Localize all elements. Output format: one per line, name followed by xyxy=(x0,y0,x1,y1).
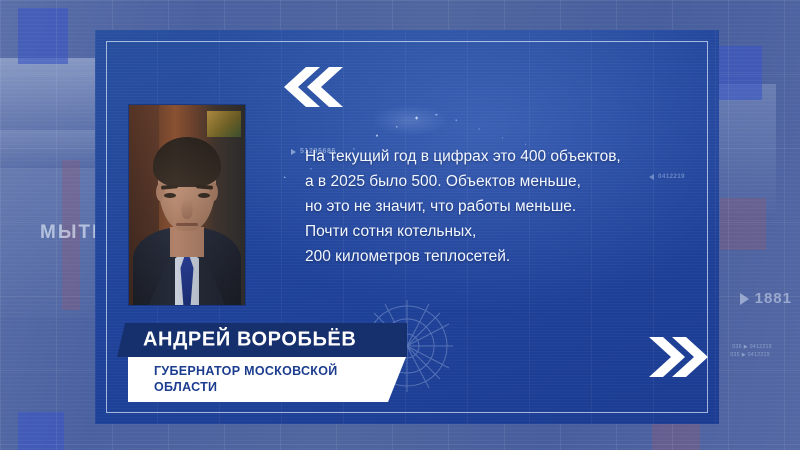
background-micro-readout-2: 035 ▶ 0412219 xyxy=(730,352,770,358)
speaker-role: ГУБЕРНАТОР МОСКОВСКОЙ ОБЛАСТИ xyxy=(154,364,338,395)
quote-text: На текущий год в цифрах это 400 объектов… xyxy=(305,144,695,269)
quote-line: На текущий год в цифрах это 400 объектов… xyxy=(305,144,695,169)
micro-readout-text: 035 ▶ 0412219 xyxy=(730,352,770,358)
background-readout-number: 1881 xyxy=(755,290,792,307)
double-chevron-right-icon xyxy=(649,335,719,379)
background-micro-readout-1: 036 ▶ 0412219 xyxy=(732,344,772,350)
micro-readout-text: 036 ▶ 0412219 xyxy=(732,344,772,350)
broadcast-quote-card: МЫТИ 1881 036 ▶ 0412219 035 ▶ 0412219 xyxy=(0,0,800,450)
portrait-vignette xyxy=(129,105,245,305)
quote-line: Почти сотня котельных, xyxy=(305,219,695,244)
speaker-portrait xyxy=(129,105,245,305)
speaker-role-bar: ГУБЕРНАТОР МОСКОВСКОЙ ОБЛАСТИ xyxy=(128,357,406,402)
quote-line: но это не значит, что работы меньше. xyxy=(305,194,695,219)
speaker-name: АНДРЕЙ ВОРОБЬЁВ xyxy=(143,329,356,352)
quote-panel: 51295686 0412219 xyxy=(95,30,719,424)
quote-line: а в 2025 было 500. Объектов меньше, xyxy=(305,169,695,194)
play-triangle-icon xyxy=(291,149,296,155)
quote-line: 200 километров теплосетей. xyxy=(305,244,695,269)
double-chevron-left-icon xyxy=(273,65,343,109)
background-readout: 1881 xyxy=(740,290,792,307)
play-triangle-icon xyxy=(740,293,749,305)
speaker-name-bar: АНДРЕЙ ВОРОБЬЁВ xyxy=(117,323,407,357)
